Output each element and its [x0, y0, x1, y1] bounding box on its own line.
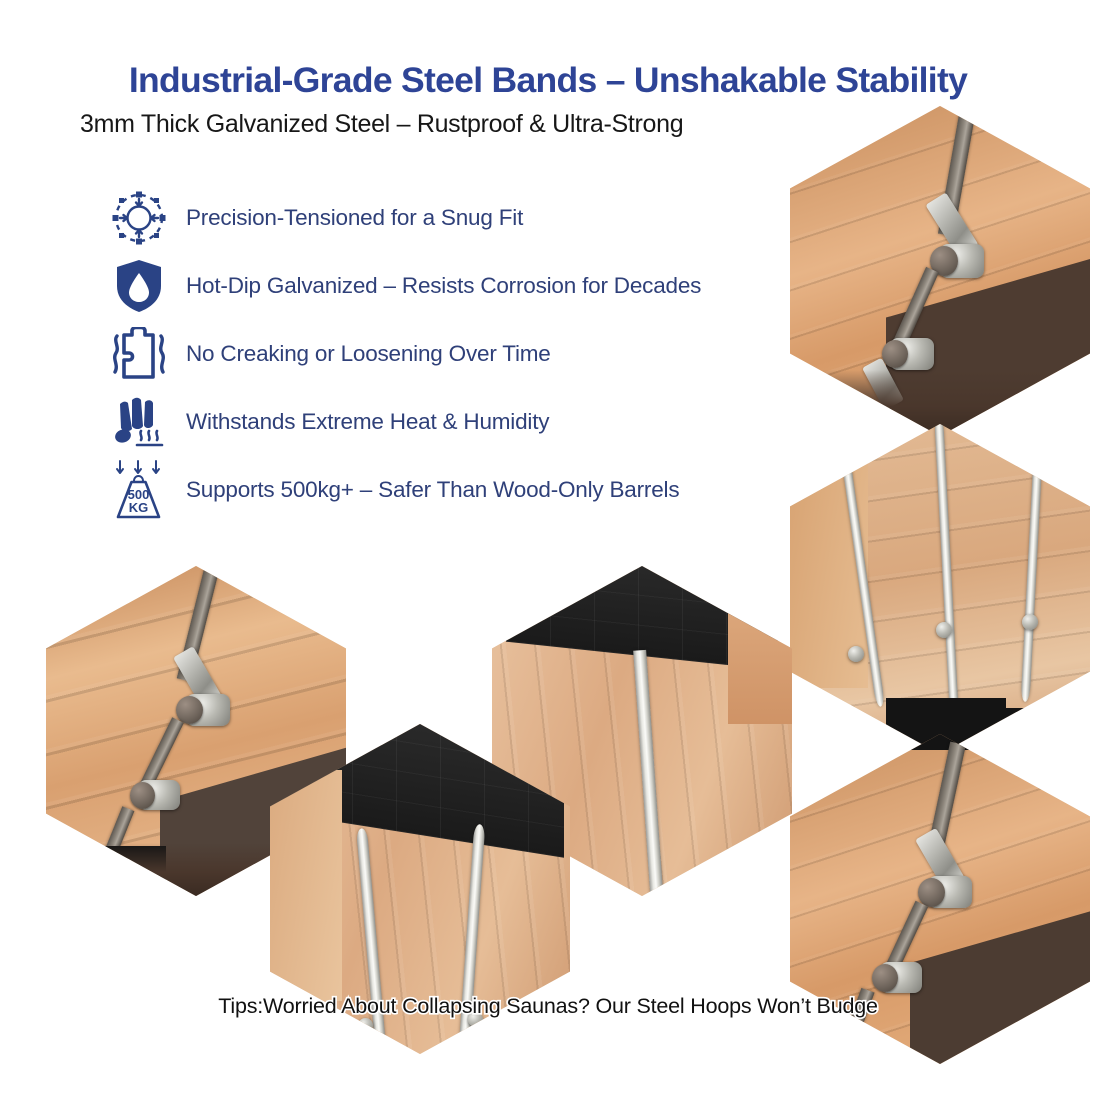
- page-title: Industrial-Grade Steel Bands – Unshakabl…: [0, 60, 1096, 101]
- photo-mid-right: [790, 424, 1090, 754]
- infographic-page: Industrial-Grade Steel Bands – Unshakabl…: [0, 0, 1096, 1096]
- feature-row-load: 500 KG Supports 500kg+ – Safer Than Wood…: [104, 456, 744, 524]
- hex-photo-collage: [0, 0, 1096, 1096]
- feature-row-no-creaking: No Creaking or Loosening Over Time: [104, 320, 744, 388]
- feature-row-heat: Withstands Extreme Heat & Humidity: [104, 388, 744, 456]
- feature-list: Precision-Tensioned for a Snug Fit Hot-D…: [104, 184, 744, 524]
- feature-row-galvanized: Hot-Dip Galvanized – Resists Corrosion f…: [104, 252, 744, 320]
- precision-target-icon: [104, 187, 174, 249]
- feature-label: Precision-Tensioned for a Snug Fit: [186, 205, 523, 231]
- photo-top-right: [790, 106, 1090, 436]
- svg-text:KG: KG: [129, 500, 149, 515]
- feature-row-precision: Precision-Tensioned for a Snug Fit: [104, 184, 744, 252]
- shield-droplet-icon: [104, 255, 174, 317]
- page-subtitle: 3mm Thick Galvanized Steel – Rustproof &…: [80, 110, 683, 139]
- no-vibration-clamp-icon: [104, 323, 174, 385]
- feature-label: Hot-Dip Galvanized – Resists Corrosion f…: [186, 273, 701, 299]
- feature-label: No Creaking or Loosening Over Time: [186, 341, 551, 367]
- tips-caption: Tips:Worried About Collapsing Saunas? Ou…: [0, 994, 1096, 1019]
- weight-500kg-icon: 500 KG: [104, 459, 174, 521]
- feature-label: Supports 500kg+ – Safer Than Wood-Only B…: [186, 477, 679, 503]
- feature-label: Withstands Extreme Heat & Humidity: [186, 409, 549, 435]
- heat-humidity-icon: [104, 391, 174, 453]
